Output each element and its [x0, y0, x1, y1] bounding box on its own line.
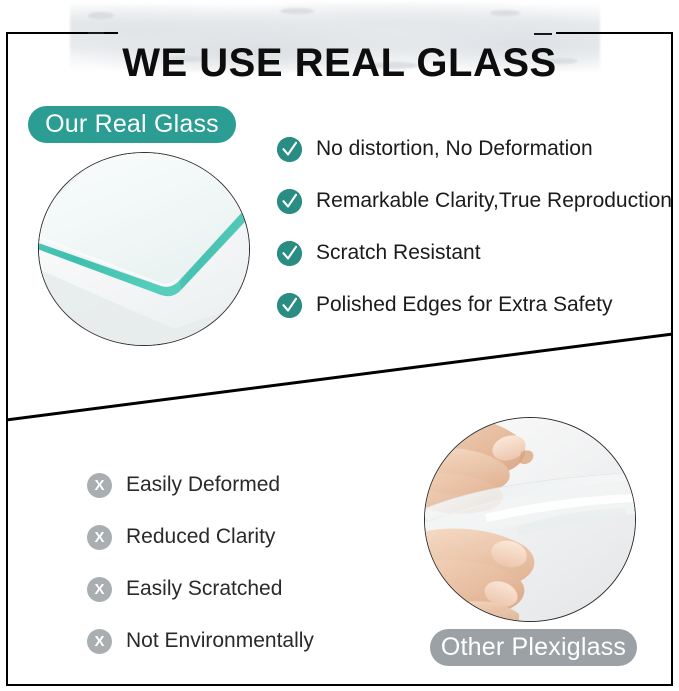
list-item-label: Not Environmentally [126, 629, 314, 653]
badge-our-real-glass: Our Real Glass [28, 106, 236, 143]
cross-circle-icon: X [87, 525, 112, 550]
plexiglass-photo [424, 417, 636, 622]
disadvantages-list: X Easily Deformed X Reduced Clarity X Ea… [87, 459, 314, 667]
check-circle-icon [277, 137, 302, 162]
check-circle-icon [277, 189, 302, 214]
diagonal-divider [6, 332, 673, 422]
badge-other-plexiglass-label: Other Plexiglass [441, 633, 626, 662]
badge-our-real-glass-label: Our Real Glass [45, 110, 219, 139]
check-circle-icon [277, 293, 302, 318]
list-item: X Not Environmentally [87, 615, 314, 667]
list-item-label: Scratch Resistant [316, 241, 481, 265]
cross-glyph: X [94, 582, 104, 597]
list-item-label: Easily Scratched [126, 577, 282, 601]
frame-bottom-edge [6, 684, 673, 686]
check-circle-icon [277, 241, 302, 266]
list-item-label: Reduced Clarity [126, 525, 275, 549]
brush-tick-left [88, 32, 104, 34]
cross-circle-icon: X [87, 577, 112, 602]
list-item-label: Remarkable Clarity,True Reproduction [316, 189, 672, 213]
cross-glyph: X [94, 530, 104, 545]
list-item: X Easily Deformed [87, 459, 314, 511]
advantages-list: No distortion, No Deformation Remarkable… [277, 123, 672, 331]
cross-glyph: X [94, 634, 104, 649]
list-item: X Reduced Clarity [87, 511, 314, 563]
list-item-label: No distortion, No Deformation [316, 137, 593, 161]
badge-other-plexiglass: Other Plexiglass [430, 629, 637, 666]
list-item: Scratch Resistant [277, 227, 672, 279]
brush-tick-right [534, 33, 552, 35]
cross-circle-icon: X [87, 473, 112, 498]
cross-circle-icon: X [87, 629, 112, 654]
frame-top-right-segment [556, 32, 673, 34]
list-item: Polished Edges for Extra Safety [277, 279, 672, 331]
list-item: No distortion, No Deformation [277, 123, 672, 175]
list-item-label: Easily Deformed [126, 473, 280, 497]
list-item: X Easily Scratched [87, 563, 314, 615]
real-glass-photo [38, 152, 250, 346]
cross-glyph: X [94, 478, 104, 493]
infographic-page: WE USE REAL GLASS Our Real Glass [0, 0, 679, 691]
list-item-label: Polished Edges for Extra Safety [316, 293, 613, 317]
page-title: WE USE REAL GLASS [0, 41, 679, 85]
list-item: Remarkable Clarity,True Reproduction [277, 175, 672, 227]
